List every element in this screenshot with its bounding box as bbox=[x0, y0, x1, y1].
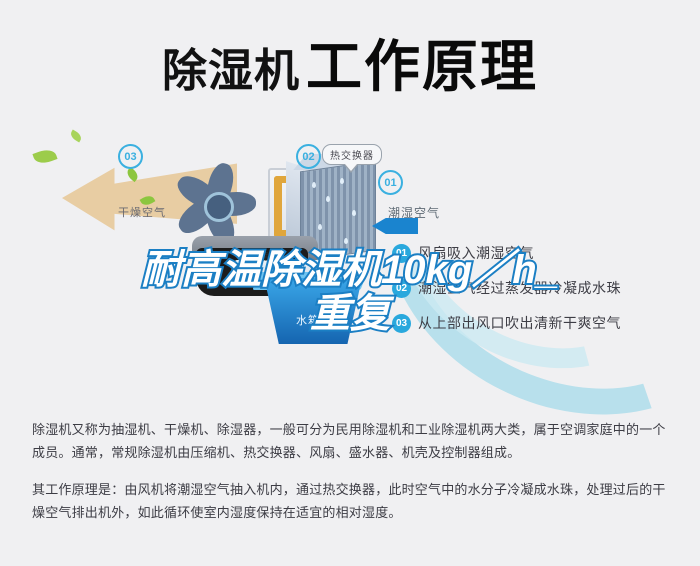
legend-text-02: 潮湿空气经过蒸发器冷凝成水珠 bbox=[418, 278, 621, 298]
leaf-icon bbox=[32, 147, 57, 167]
legend-text-03: 从上部出风口吹出清新干爽空气 bbox=[418, 313, 621, 333]
heat-exchanger-callout-bubble: 热交换器 bbox=[322, 144, 382, 165]
page-title-part-b: 工作原理 bbox=[306, 35, 538, 98]
legend-text-01: 风扇吸入潮湿空气 bbox=[418, 243, 534, 263]
water-tank-icon bbox=[258, 278, 362, 344]
callout-badge-02: 02 bbox=[296, 144, 321, 169]
humid-air-label: 潮湿空气 bbox=[388, 204, 440, 221]
legend-item: 01 风扇吸入潮湿空气 bbox=[392, 243, 692, 263]
legend-badge-02: 02 bbox=[392, 279, 411, 298]
legend-list: 01 风扇吸入潮湿空气 02 潮湿空气经过蒸发器冷凝成水珠 03 从上部出风口吹… bbox=[392, 243, 692, 348]
compressor-label: 压缩机 bbox=[248, 248, 281, 263]
legend-badge-01: 01 bbox=[392, 244, 411, 263]
water-tank-label: 水箱 bbox=[296, 312, 320, 328]
dry-air-label: 干燥空气 bbox=[118, 204, 166, 220]
description-paragraph-1: 除湿机又称为抽湿机、干燥机、除湿器，一般可分为民用除湿机和工业除湿机两大类，属于… bbox=[32, 418, 672, 464]
page-title-part-a: 除湿机 bbox=[162, 45, 300, 96]
legend-item: 02 潮湿空气经过蒸发器冷凝成水珠 bbox=[392, 278, 692, 298]
legend-item: 03 从上部出风口吹出清新干爽空气 bbox=[392, 313, 692, 333]
leaf-icon bbox=[69, 130, 83, 143]
infographic-page: 除湿机工作原理 干燥空气 bbox=[0, 0, 700, 566]
page-title: 除湿机工作原理 bbox=[0, 22, 700, 103]
callout-badge-03: 03 bbox=[118, 144, 143, 169]
callout-badge-01: 01 bbox=[378, 170, 403, 195]
description-paragraph-2: 其工作原理是：由风机将潮湿空气抽入机内，通过热交换器，此时空气中的水分子冷凝成水… bbox=[32, 478, 672, 524]
legend-badge-03: 03 bbox=[392, 314, 411, 333]
